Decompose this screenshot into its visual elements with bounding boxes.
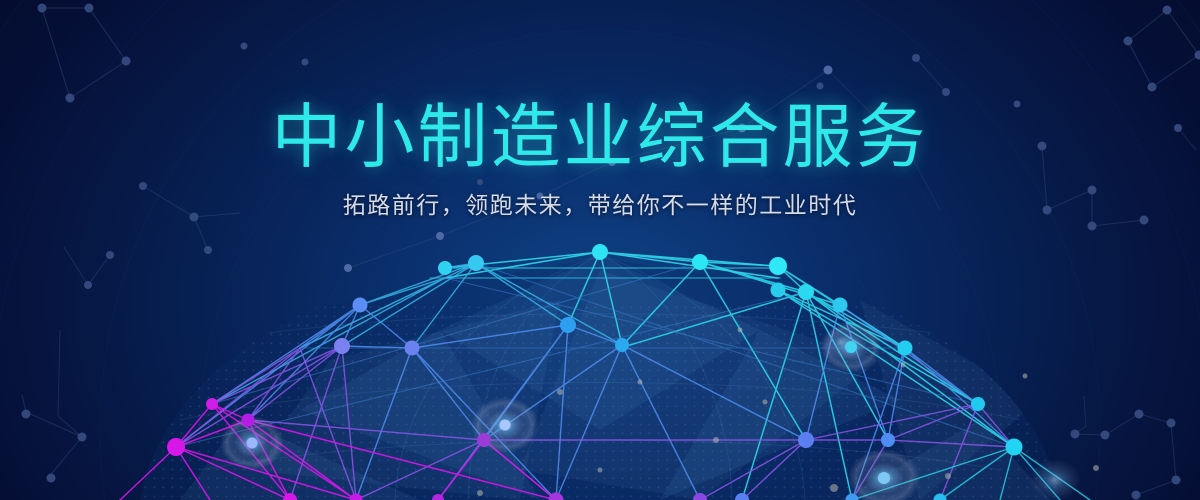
glow-node <box>1029 459 1081 500</box>
node <box>798 432 814 448</box>
constellation-top-right-quad <box>1124 6 1200 92</box>
constellation-bottom-right <box>1071 396 1181 500</box>
glow-node <box>821 325 861 359</box>
constellation-bottom-left <box>22 330 87 483</box>
node <box>438 261 452 275</box>
node <box>334 338 350 354</box>
node-apex <box>592 244 608 260</box>
dome-network-graphic <box>0 0 1200 500</box>
node <box>971 397 985 411</box>
node <box>167 438 185 456</box>
node <box>771 283 786 298</box>
constellation-left-lower <box>64 247 114 289</box>
node <box>242 414 255 427</box>
node <box>206 398 218 410</box>
node <box>692 254 708 270</box>
node <box>405 341 420 356</box>
constellation-top-left-quad <box>38 4 131 103</box>
node <box>615 338 629 352</box>
hero-text-block: 中小制造业综合服务 拓路前行，领跑未来，带给你不一样的工业时代 <box>0 96 1200 220</box>
node <box>881 433 895 447</box>
node <box>353 298 368 313</box>
node <box>1006 439 1023 456</box>
page-subtitle: 拓路前行，领跑未来，带给你不一样的工业时代 <box>0 190 1200 220</box>
node <box>798 284 814 300</box>
node <box>468 255 484 271</box>
node <box>898 341 913 356</box>
node <box>833 298 848 313</box>
node <box>560 317 576 333</box>
node <box>769 257 787 275</box>
node <box>477 433 491 447</box>
page-title: 中小制造业综合服务 <box>0 96 1200 178</box>
hero-banner: 中小制造业综合服务 拓路前行，领跑未来，带给你不一样的工业时代 <box>0 0 1200 500</box>
